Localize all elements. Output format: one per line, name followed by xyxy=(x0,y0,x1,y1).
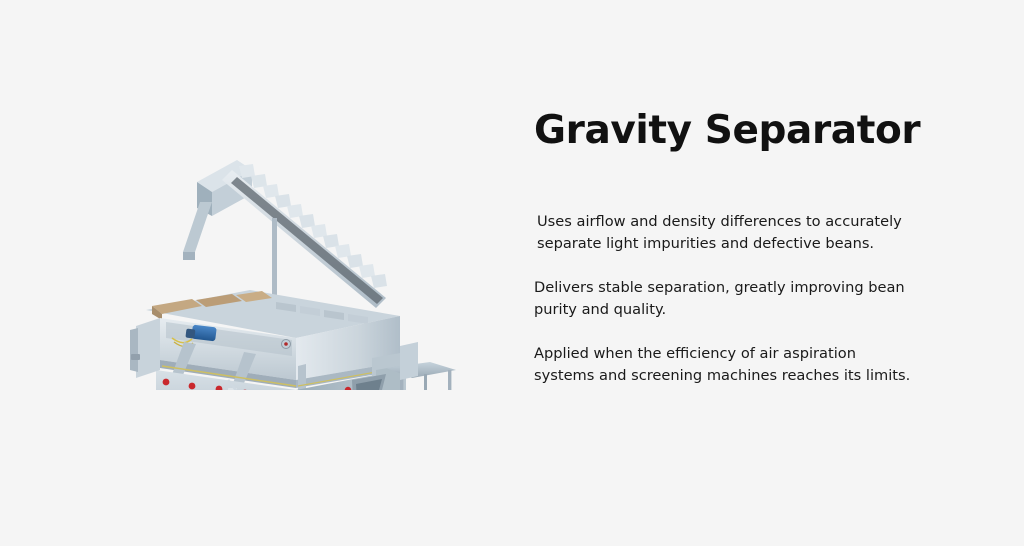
description-paragraph-1: Uses airflow and density differences to … xyxy=(537,211,919,254)
elevator-support-leg xyxy=(183,202,212,252)
left-end-cap xyxy=(130,318,160,378)
slide-root: Gravity Separator Uses airflow and densi… xyxy=(0,0,1024,546)
gravity-separator-machine-photo xyxy=(100,130,510,390)
end-cap-bracket xyxy=(131,354,140,360)
bucket-elevator-assembly xyxy=(183,160,387,314)
text-column: Gravity Separator Uses airflow and densi… xyxy=(534,108,934,386)
knob-2[interactable] xyxy=(189,383,196,390)
drive-motor xyxy=(191,325,217,342)
knob-1[interactable] xyxy=(163,379,170,386)
table-leg-mid xyxy=(424,374,427,390)
elevator-leg-foot xyxy=(183,252,195,260)
end-cap-face xyxy=(136,318,160,378)
description-paragraph-3: Applied when the efficiency of air aspir… xyxy=(534,343,916,386)
elevator-belt-dark-track xyxy=(231,177,383,304)
page-title: Gravity Separator xyxy=(534,108,934,154)
inspection-port-center xyxy=(284,342,288,346)
table-leg-right xyxy=(448,370,451,390)
motor-coupling xyxy=(185,329,195,339)
description-paragraph-2: Delivers stable separation, greatly impr… xyxy=(534,277,916,320)
elevator-buckets xyxy=(239,164,387,288)
riser-panel xyxy=(400,342,418,380)
machine-illustration xyxy=(100,130,510,390)
end-cap-edge xyxy=(130,328,138,372)
